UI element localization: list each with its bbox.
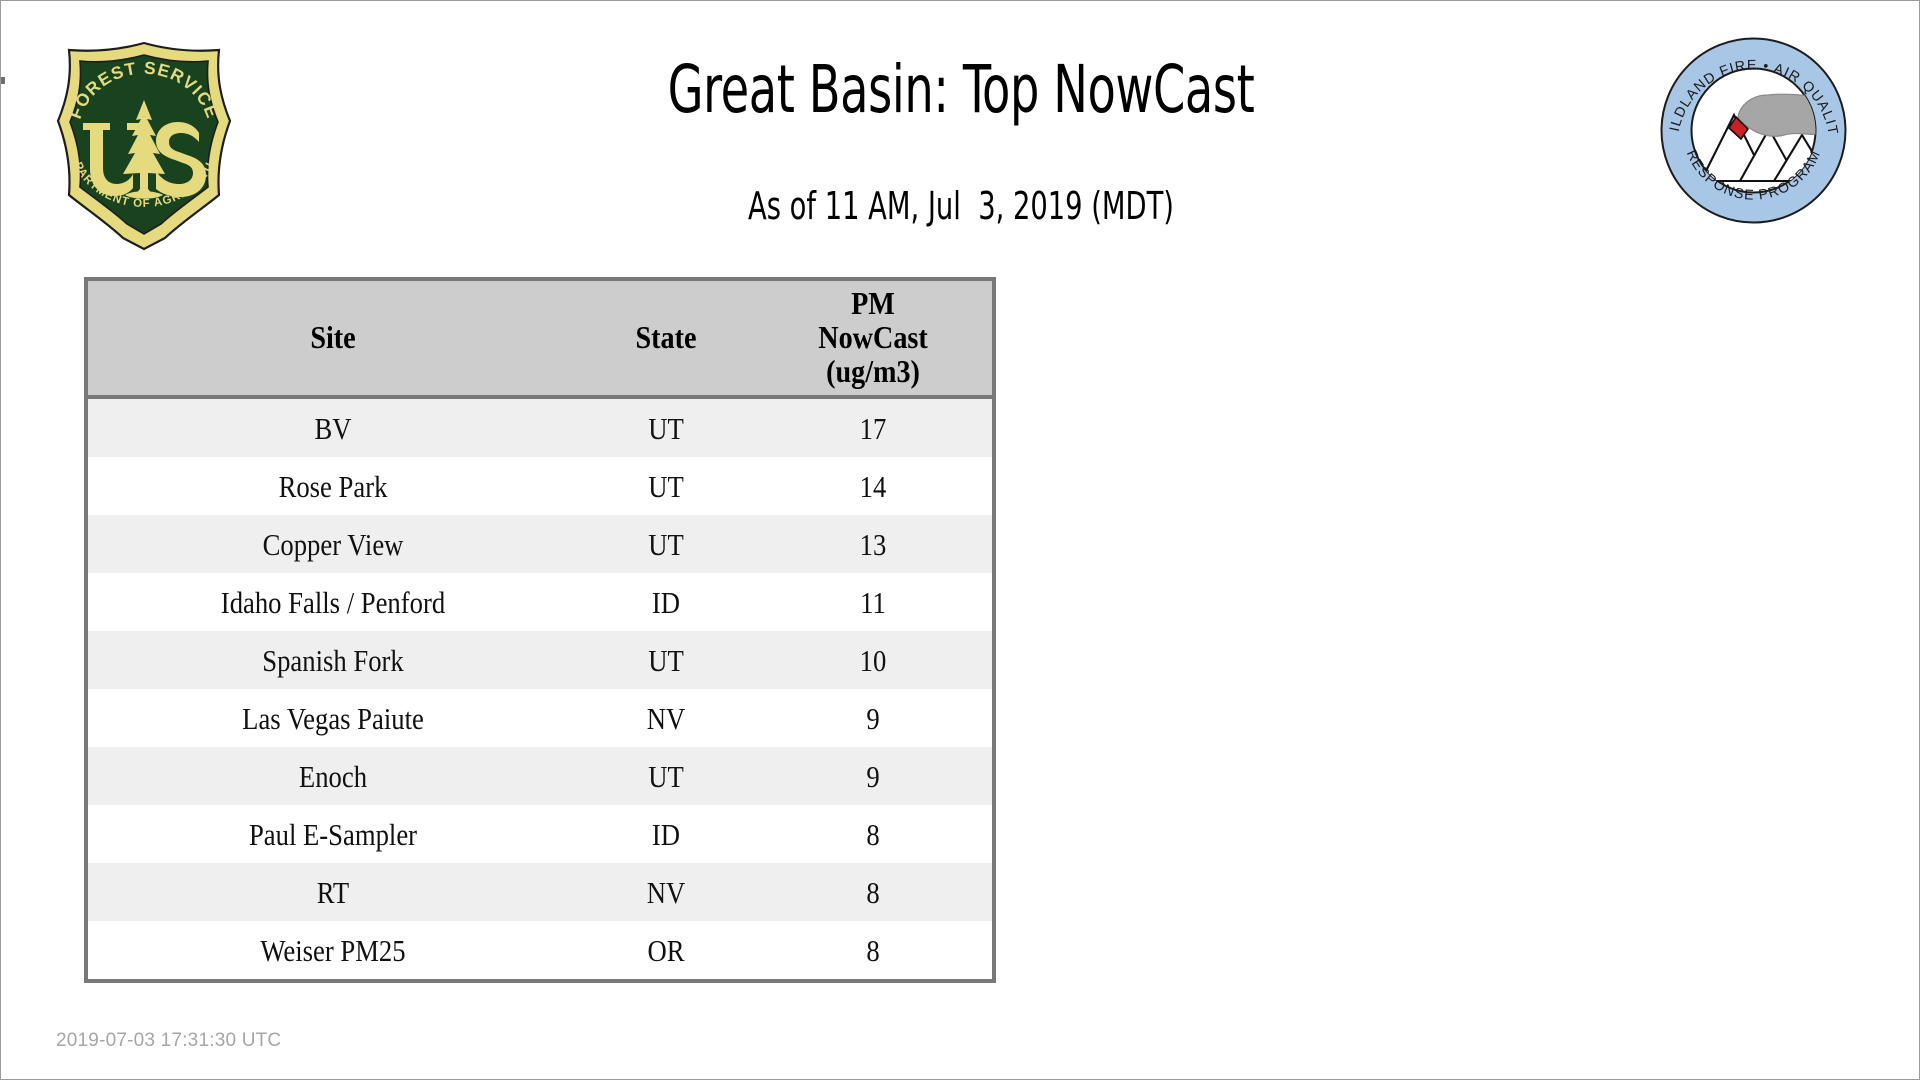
cell-pm-nowcast: 9 (754, 747, 994, 805)
cell-state-value: OR (590, 935, 741, 966)
cell-site: Weiser PM25 (86, 921, 578, 981)
cell-site-value: Rose Park (122, 471, 543, 502)
cell-pm-nowcast-value: 10 (771, 645, 976, 676)
cell-state-value: UT (590, 529, 741, 560)
cell-state: ID (578, 573, 754, 631)
cell-site-value: Weiser PM25 (122, 935, 543, 966)
table-header-row: Site State PM NowCast (ug/m3) (86, 279, 994, 397)
cell-state: UT (578, 397, 754, 457)
column-header-site: Site (86, 279, 578, 397)
cell-pm-nowcast: 8 (754, 863, 994, 921)
page-title: Great Basin: Top NowCast (212, 57, 1710, 123)
cell-pm-nowcast-value: 8 (771, 877, 976, 908)
cell-state: UT (578, 457, 754, 515)
cell-state-value: UT (590, 761, 741, 792)
cell-state-value: UT (590, 413, 741, 444)
cell-site-value: BV (122, 413, 543, 444)
cell-pm-nowcast: 8 (754, 921, 994, 981)
cell-pm-nowcast-value: 8 (771, 935, 976, 966)
cell-site-value: Paul E-Sampler (122, 819, 543, 850)
nowcast-table: Site State PM NowCast (ug/m3) BVUT17Rose… (84, 277, 996, 983)
cell-pm-nowcast: 9 (754, 689, 994, 747)
cell-state-value: UT (590, 645, 741, 676)
column-header-state-label: State (589, 321, 744, 355)
cell-pm-nowcast-value: 9 (771, 761, 976, 792)
slide-page: FOREST SERVICE DEPARTMENT OF AGRICULTURE (0, 0, 1920, 1080)
cell-state: UT (578, 631, 754, 689)
cell-site-value: Las Vegas Paiute (122, 703, 543, 734)
table-row: Idaho Falls / PenfordID11 (86, 573, 994, 631)
cell-pm-nowcast-value: 17 (771, 413, 976, 444)
cell-state: NV (578, 863, 754, 921)
cell-state: OR (578, 921, 754, 981)
column-header-pm-line2: NowCast (768, 321, 977, 355)
table-row: Weiser PM25OR8 (86, 921, 994, 981)
column-header-pm-line3: (ug/m3) (768, 355, 977, 389)
column-header-state: State (578, 279, 754, 397)
cell-site-value: Copper View (122, 529, 543, 560)
table-header: Site State PM NowCast (ug/m3) (86, 279, 994, 397)
cell-pm-nowcast: 13 (754, 515, 994, 573)
cell-site: Las Vegas Paiute (86, 689, 578, 747)
table-row: EnochUT9 (86, 747, 994, 805)
cell-state-value: NV (590, 703, 741, 734)
cell-site: Rose Park (86, 457, 578, 515)
column-header-pm-line1: PM (768, 287, 977, 321)
cell-state: NV (578, 689, 754, 747)
cell-state: UT (578, 747, 754, 805)
cell-pm-nowcast-value: 13 (771, 529, 976, 560)
table-row: Rose ParkUT14 (86, 457, 994, 515)
cell-site: Copper View (86, 515, 578, 573)
cell-site-value: RT (122, 877, 543, 908)
cell-pm-nowcast-value: 9 (771, 703, 976, 734)
table-body: BVUT17Rose ParkUT14Copper ViewUT13Idaho … (86, 397, 994, 981)
cell-site-value: Spanish Fork (122, 645, 543, 676)
cell-state-value: ID (590, 819, 741, 850)
cell-site: Idaho Falls / Penford (86, 573, 578, 631)
cell-site: Spanish Fork (86, 631, 578, 689)
page-subtitle: As of 11 AM, Jul 3, 2019 (MDT) (193, 187, 1729, 225)
table-row: Paul E-SamplerID8 (86, 805, 994, 863)
table-row: Spanish ForkUT10 (86, 631, 994, 689)
cell-site: Paul E-Sampler (86, 805, 578, 863)
column-header-site-label: Site (117, 321, 548, 355)
cell-site: BV (86, 397, 578, 457)
cell-pm-nowcast: 8 (754, 805, 994, 863)
cell-site: Enoch (86, 747, 578, 805)
cell-pm-nowcast: 14 (754, 457, 994, 515)
cell-site-value: Idaho Falls / Penford (122, 587, 543, 618)
page-edge-tick (1, 77, 5, 84)
cell-pm-nowcast: 10 (754, 631, 994, 689)
table-row: Copper ViewUT13 (86, 515, 994, 573)
cell-pm-nowcast: 17 (754, 397, 994, 457)
cell-state: ID (578, 805, 754, 863)
cell-pm-nowcast-value: 14 (771, 471, 976, 502)
cell-state-value: ID (590, 587, 741, 618)
cell-pm-nowcast: 11 (754, 573, 994, 631)
cell-site: RT (86, 863, 578, 921)
cell-state-value: UT (590, 471, 741, 502)
table-row: Las Vegas PaiuteNV9 (86, 689, 994, 747)
column-header-pm-nowcast: PM NowCast (ug/m3) (754, 279, 994, 397)
cell-state: UT (578, 515, 754, 573)
footer-timestamp: 2019-07-03 17:31:30 UTC (56, 1030, 281, 1052)
cell-site-value: Enoch (122, 761, 543, 792)
table-row: BVUT17 (86, 397, 994, 457)
table-row: RTNV8 (86, 863, 994, 921)
cell-state-value: NV (590, 877, 741, 908)
cell-pm-nowcast-value: 11 (771, 587, 976, 618)
cell-pm-nowcast-value: 8 (771, 819, 976, 850)
